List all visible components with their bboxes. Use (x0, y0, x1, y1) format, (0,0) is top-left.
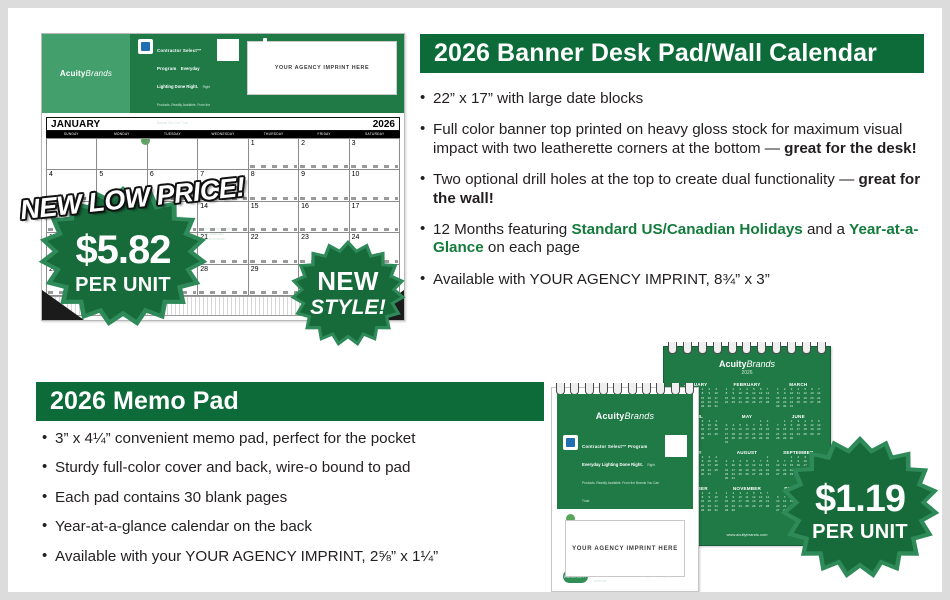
section2-bullet-list: 3” x 4¼” convenient memo pad, perfect fo… (42, 430, 542, 577)
calendar-day-lines (300, 165, 347, 168)
desk-pad-banner-top: AcuityBrands Contractor Select™ Program … (42, 34, 404, 113)
agency-imprint-text: YOUR AGENCY IMPRINT HERE (275, 65, 369, 71)
bullet-yag: Year-at-a-glance calendar on the back (42, 518, 542, 536)
calendar-day-number: 16 (301, 203, 309, 210)
wire-coil (683, 342, 692, 354)
memo-pad-price: $1.19 (815, 480, 905, 518)
bullet-text-span: 22” x 17” with large date blocks (433, 90, 643, 107)
bullet-banner-top: Full color banner top printed on heavy g… (420, 121, 932, 158)
mini-month: MARCH12345678910111213141516171819202122… (775, 382, 822, 409)
memo-pad-price-unit: PER UNIT (812, 522, 908, 542)
calendar-day-cell (47, 139, 97, 170)
wire-coil (742, 342, 751, 354)
wire-o-binding-icon (668, 342, 826, 354)
program-row: Contractor Select™ Program Everyday Ligh… (138, 39, 239, 129)
calendar-day-cell (198, 139, 248, 170)
new-style-line2: STYLE! (310, 297, 386, 318)
calendar-day-cell (97, 139, 147, 170)
calendar-weekday: WEDNESDAY (198, 131, 249, 138)
calendar-day-cell: 3 (350, 139, 400, 170)
calendar-weekday: TUESDAY (147, 131, 198, 138)
bullet-pages: Each pad contains 30 blank pages (42, 489, 542, 507)
program-title: Contractor Select™ Program (582, 444, 647, 449)
calendar-day-lines (351, 228, 398, 231)
calendar-weekday: THURSDAY (248, 131, 299, 138)
calendar-weekday: SUNDAY (46, 131, 97, 138)
bullet-text-span: great for the desk! (784, 140, 917, 157)
bullet-cover: Sturdy full-color cover and back, wire-o… (42, 459, 542, 477)
calendar-day-cell (148, 139, 198, 170)
bullet-text-span: Two optional drill holes at the top to c… (433, 171, 859, 188)
mini-month-name: MAY (723, 414, 770, 419)
mini-month-days: 1234567891011121314151617181920212223242… (723, 420, 770, 445)
calendar-day-number: 17 (352, 203, 360, 210)
desk-pad-price: $5.82 (75, 230, 170, 270)
memo-pad-price-starburst: $1.19 PER UNIT (780, 436, 940, 578)
calendar-day-number: 2 (301, 140, 305, 147)
qr-code-icon (665, 435, 687, 457)
calendar-day-number: 4 (49, 171, 53, 178)
calendar-day-cell: 10 (350, 170, 400, 201)
section1-bullet-list: 22” x 17” with large date blocksFull col… (420, 90, 932, 302)
calendar-month-bar: JANUARY 2026 (46, 117, 400, 131)
mini-month-days: 1234567891011121314151617181920212223242… (775, 388, 822, 409)
bullet-text-span: Standard US/Canadian Holidays (571, 221, 802, 238)
mini-month-name: NOVEMBER (723, 486, 770, 491)
bullet-text-span: and a (803, 221, 849, 238)
bullet-size: 22” x 17” with large date blocks (420, 90, 932, 108)
calendar-day-lines (300, 228, 347, 231)
calendar-month-label: JANUARY (51, 119, 100, 130)
calendar-day-number: 29 (251, 266, 259, 273)
bullet-drill-holes: Two optional drill holes at the top to c… (420, 171, 932, 208)
section1-title: 2026 Banner Desk Pad/Wall Calendar (434, 39, 877, 68)
calendar-day-cell: 15 (249, 202, 299, 233)
qr-code-icon (217, 39, 239, 61)
bullet-text-span: Available with YOUR AGENCY IMPRINT, 8¾” … (433, 271, 770, 288)
calendar-day-lines (250, 165, 297, 168)
mini-month-name: JUNE (775, 414, 822, 419)
memo-front-green-panel: AcuityBrands Contractor Select™ Program … (557, 394, 693, 509)
calendar-day-number: 1 (251, 140, 255, 147)
calendar-weekday: MONDAY (97, 131, 148, 138)
calendar-day-cell: 2 (299, 139, 349, 170)
wire-coil (802, 342, 811, 354)
calendar-day-number: 6 (150, 171, 154, 178)
calendar-year-label: 2026 (373, 119, 395, 130)
calendar-day-lines (351, 165, 398, 168)
wire-coil (713, 342, 722, 354)
acuity-brands-logo: AcuityBrands (60, 69, 112, 78)
bullet-imprint: Available with your YOUR AGENCY IMPRINT,… (42, 548, 542, 566)
calendar-day-number: 15 (251, 203, 259, 210)
wire-coil (817, 342, 826, 354)
agency-imprint-area: YOUR AGENCY IMPRINT HERE (565, 520, 685, 577)
wire-coil (728, 342, 737, 354)
mini-month: MAY1234567891011121314151617181920212223… (723, 414, 770, 445)
agency-imprint-text: YOUR AGENCY IMPRINT HERE (572, 546, 678, 552)
mini-month: AUGUST1234567891011121314151617181920212… (723, 450, 770, 481)
section2-title: 2026 Memo Pad (50, 387, 239, 416)
calendar-day-number: 3 (352, 140, 356, 147)
mini-month-days: 1234567891011121314151617181920212223242… (723, 456, 770, 481)
calendar-weekday-header: SUNDAYMONDAYTUESDAYWEDNESDAYTHURSDAYFRID… (46, 131, 400, 138)
flyer-page: AcuityBrands Contractor Select™ Program … (8, 8, 942, 592)
calendar-weekday: FRIDAY (299, 131, 350, 138)
calendar-day-lines (250, 197, 297, 200)
calendar-day-lines (351, 197, 398, 200)
desk-pad-price-unit: PER UNIT (75, 275, 171, 295)
calendar-day-lines (250, 228, 297, 231)
calendar-day-number: 22 (251, 234, 259, 241)
wire-coil (698, 342, 707, 354)
memo-pad-front-image: AcuityBrands Contractor Select™ Program … (551, 387, 699, 592)
section-heading-desk-pad: 2026 Banner Desk Pad/Wall Calendar (420, 34, 924, 73)
wire-coil (787, 342, 796, 354)
program-subtitle: Everyday Lighting Done Right. (582, 462, 643, 467)
contractor-select-badge-icon (563, 435, 578, 450)
bullet-imprint: Available with YOUR AGENCY IMPRINT, 8¾” … (420, 271, 932, 289)
calendar-day-number: 10 (352, 171, 360, 178)
new-style-starburst: NEW STYLE! (290, 240, 406, 346)
bullet-text-span: on each page (484, 239, 580, 256)
program-callouts: Contractor Select™ Program Everyday Ligh… (130, 34, 243, 113)
mini-month-name: AUGUST (723, 450, 770, 455)
memo-back-year: 2026 (664, 370, 830, 376)
calendar-weekday: SATURDAY (349, 131, 400, 138)
section-heading-memo-pad: 2026 Memo Pad (36, 382, 544, 421)
calendar-day-cell: 1 (249, 139, 299, 170)
acuity-brands-logo: AcuityBrands (557, 394, 693, 421)
calendar-day-cell: 9 (299, 170, 349, 201)
mini-month-days: 1234567891011121314151617181920212223242… (723, 388, 770, 405)
mini-month: NOVEMBER12345678910111213141516171819202… (723, 486, 770, 513)
program-row: Contractor Select™ Program Everyday Ligh… (563, 435, 687, 507)
calendar-day-lines (300, 197, 347, 200)
calendar-day-cell: 17 (350, 202, 400, 233)
acuity-logo-band: AcuityBrands (42, 34, 130, 113)
contractor-select-badge-icon (138, 39, 153, 54)
calendar-day-number: 5 (99, 171, 103, 178)
bullet-holidays: 12 Months featuring Standard US/Canadian… (420, 221, 932, 258)
program-detail: Right Products. Readily Available. From … (582, 463, 659, 503)
calendar-day-number: 8 (251, 171, 255, 178)
calendar-day-cell: 8 (249, 170, 299, 201)
bullet-text-span: 12 Months featuring (433, 221, 571, 238)
wire-coil (668, 342, 677, 354)
mini-month-days: 1234567891011121314151617181920212223242… (723, 492, 770, 513)
calendar-day-cell: 16 (299, 202, 349, 233)
bullet-size: 3” x 4¼” convenient memo pad, perfect fo… (42, 430, 542, 448)
mini-month: FEBRUARY12345678910111213141516171819202… (723, 382, 770, 409)
wire-coil (757, 342, 766, 354)
drill-hole-icon (263, 38, 267, 42)
wire-coil (772, 342, 781, 354)
agency-imprint-area: YOUR AGENCY IMPRINT HERE (247, 41, 397, 95)
calendar-day-number: 9 (301, 171, 305, 178)
new-style-line1: NEW (317, 268, 379, 294)
